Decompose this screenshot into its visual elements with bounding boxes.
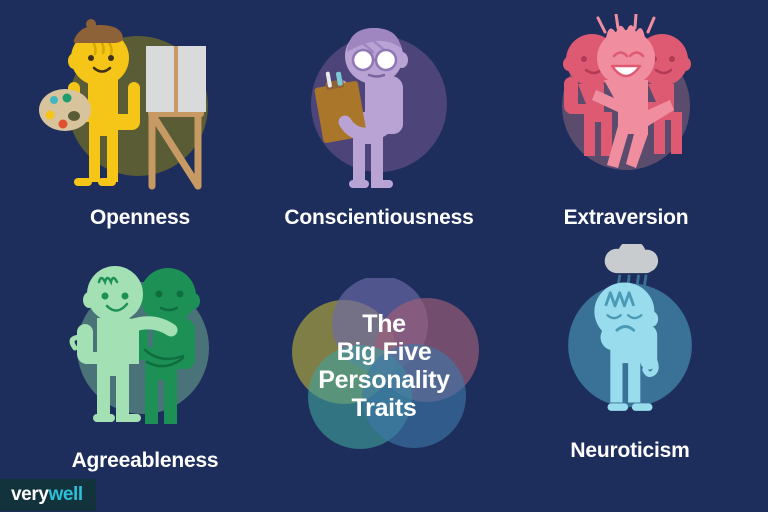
trait-label-agreeableness: Agreeableness	[35, 450, 255, 471]
title-line-4: Traits	[352, 394, 417, 422]
artist-with-easel-illustration	[30, 18, 250, 198]
three-cheering-people-illustration	[516, 14, 736, 194]
person-with-clipboard-illustration	[269, 18, 489, 198]
big-five-venn-diagram: The Big Five Personality Traits	[286, 278, 482, 454]
big-five-title: The Big Five Personality Traits	[286, 278, 482, 454]
trait-card-conscientiousness: Conscientiousness	[269, 18, 489, 228]
trait-label-conscientiousness: Conscientiousness	[269, 207, 489, 228]
infographic-canvas: Openness	[0, 0, 768, 512]
title-line-3: Personality	[318, 366, 449, 394]
sad-person-under-rain-cloud-illustration	[520, 244, 740, 424]
verywell-logo: verywell	[0, 479, 96, 511]
trait-card-extraversion: Extraversion	[516, 14, 736, 228]
trait-card-neuroticism: Neuroticism	[520, 244, 740, 461]
trait-card-openness: Openness	[30, 18, 250, 228]
trait-label-openness: Openness	[30, 207, 250, 228]
logo-text-very: very	[11, 484, 49, 505]
trait-card-agreeableness: Agreeableness	[35, 256, 255, 471]
two-friends-embracing-illustration	[35, 256, 255, 436]
title-line-1: The	[362, 310, 406, 338]
trait-label-extraversion: Extraversion	[516, 207, 736, 228]
logo-text-well: well	[49, 484, 83, 505]
trait-label-neuroticism: Neuroticism	[520, 440, 740, 461]
title-line-2: Big Five	[337, 338, 432, 366]
